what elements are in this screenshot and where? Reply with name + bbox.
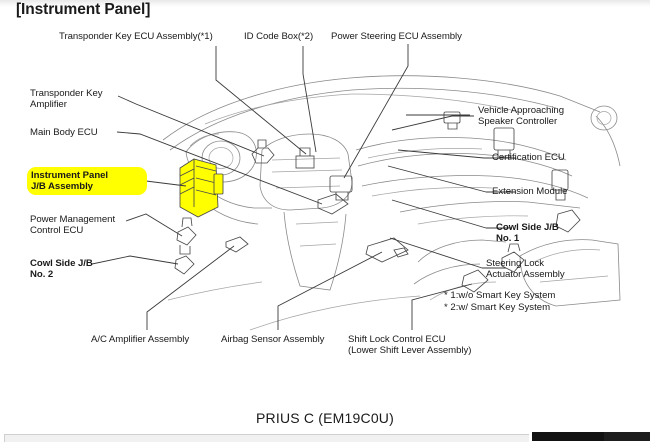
label-steering-lock-actuator-assembly: Steering Lock Actuator Assembly	[486, 258, 565, 280]
label-extension-module: Extension Module	[492, 186, 567, 197]
diagram-caption: PRIUS C (EM19C0U)	[0, 410, 650, 426]
bottom-chrome-dark-segment-2	[604, 432, 650, 441]
footnote-smart-key-without: * 1:w/o Smart Key System	[444, 290, 555, 302]
label-id-code-box: ID Code Box(*2)	[244, 31, 313, 42]
label-power-steering-ecu-assembly: Power Steering ECU Assembly	[331, 31, 462, 42]
label-cowl-side-jb-no1: Cowl Side J/B No. 1	[496, 222, 559, 244]
label-transponder-key-amplifier: Transponder Key Amplifier	[30, 88, 103, 110]
label-instrument-panel-jb-assembly: Instrument Panel J/B Assembly	[31, 170, 108, 192]
label-certification-ecu: Certification ECU	[492, 152, 565, 163]
label-power-management-control-ecu: Power Management Control ECU	[30, 214, 115, 236]
label-airbag-sensor-assembly: Airbag Sensor Assembly	[221, 334, 324, 345]
instrument-panel-jb-highlight	[180, 159, 223, 217]
label-main-body-ecu: Main Body ECU	[30, 127, 98, 138]
diagram-page: [Instrument Panel]	[0, 0, 650, 441]
label-vehicle-approaching-speaker-controller: Vehicle Approaching Speaker Controller	[478, 105, 564, 127]
label-shift-lock-control-ecu: Shift Lock Control ECU (Lower Shift Leve…	[348, 334, 471, 356]
bottom-edge-chrome	[0, 432, 650, 441]
label-cowl-side-jb-no2: Cowl Side J/B No. 2	[30, 258, 93, 280]
label-ac-amplifier-assembly: A/C Amplifier Assembly	[91, 334, 189, 345]
footnote-smart-key-with: * 2:w/ Smart Key System	[444, 302, 550, 314]
label-transponder-key-ecu-assembly: Transponder Key ECU Assembly(*1)	[59, 31, 213, 42]
